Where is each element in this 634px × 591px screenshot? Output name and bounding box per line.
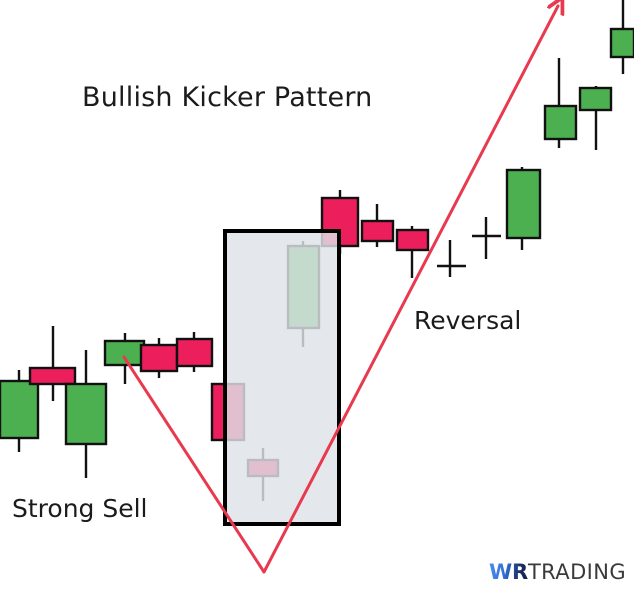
v-shaped-reversal-trendline [124, 6, 558, 572]
candlestick-chart-figure: Bullish Kicker Pattern Strong Sell Rever… [0, 0, 634, 591]
trend-annotation-layer [0, 0, 634, 591]
